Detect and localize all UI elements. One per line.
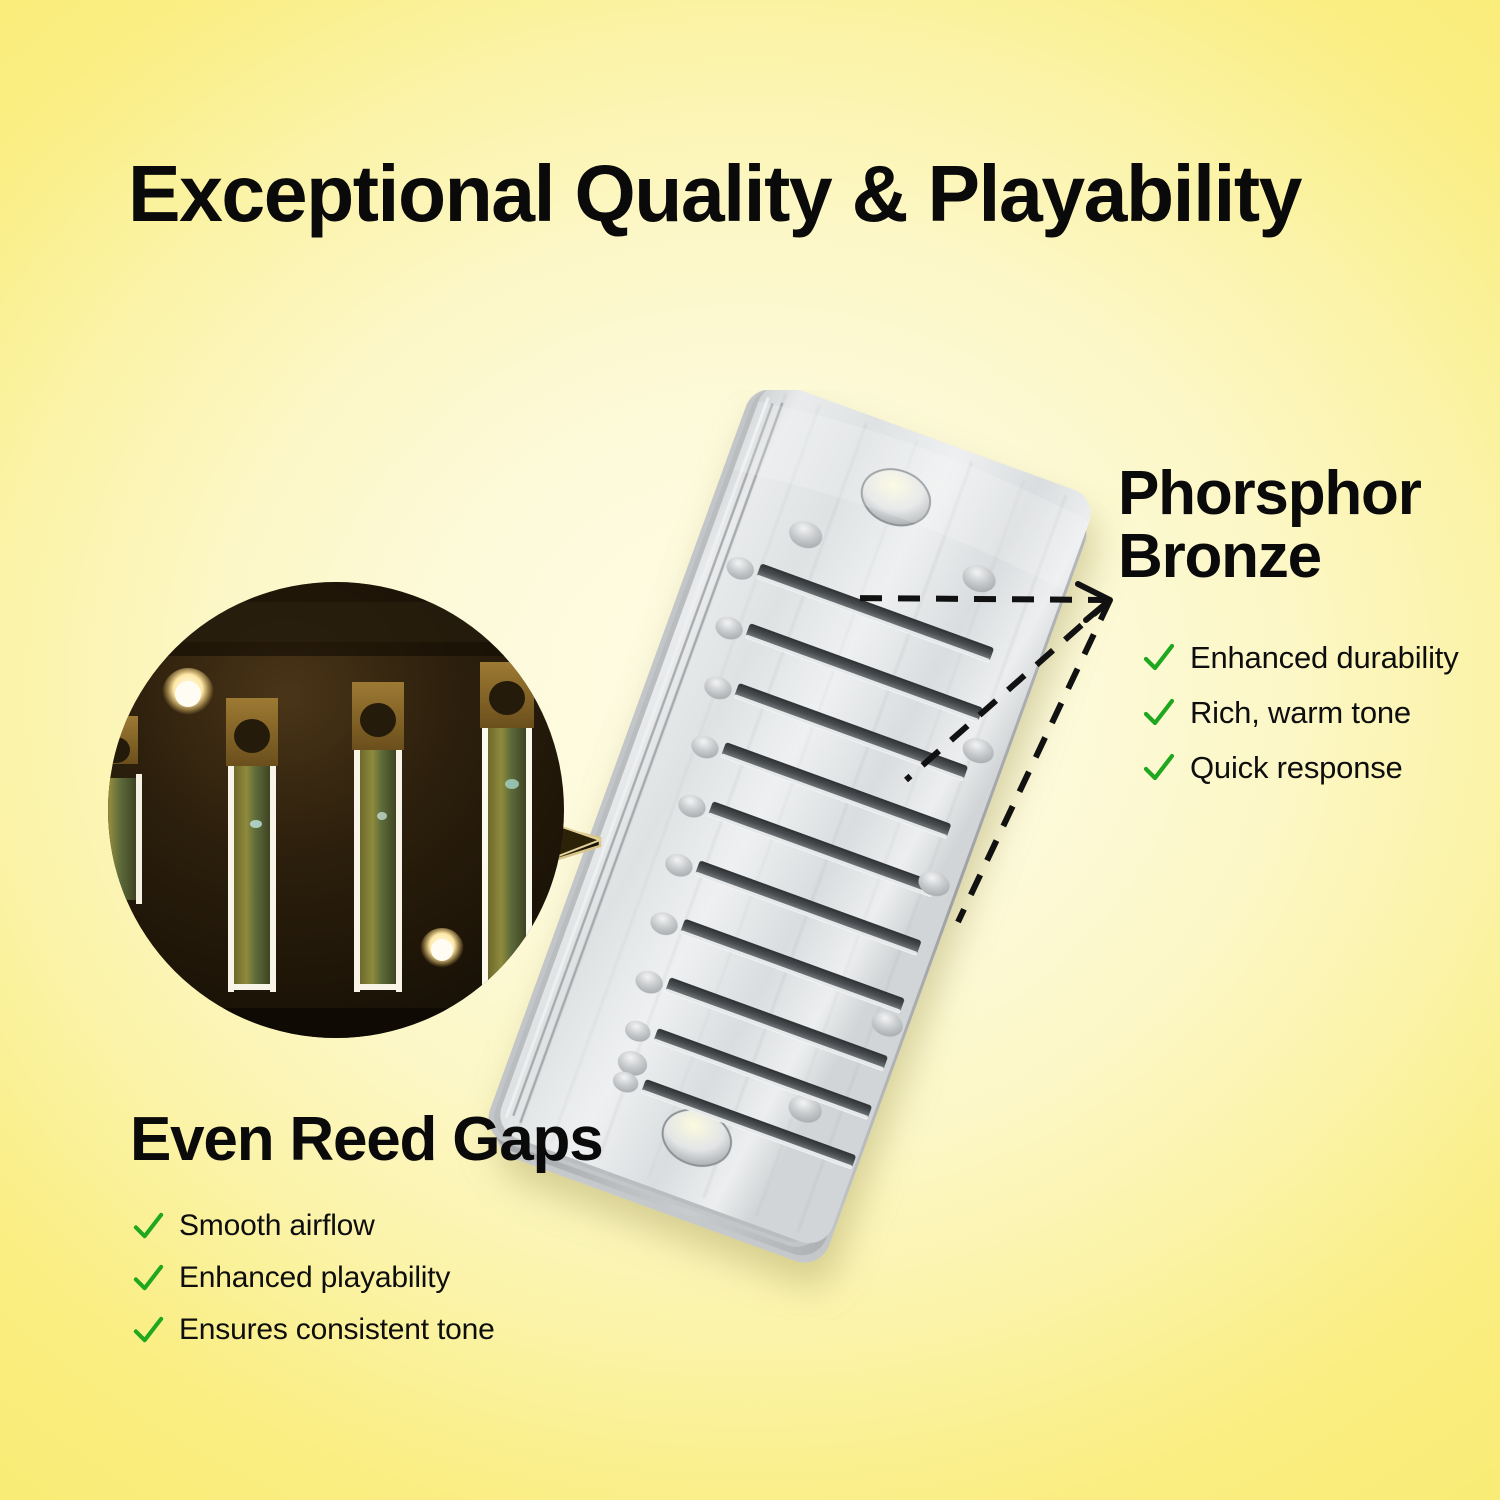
bronze-heading: Phorsphor Bronze xyxy=(1118,462,1488,588)
check-icon xyxy=(132,1314,165,1347)
list-item: Quick response xyxy=(1142,740,1459,795)
list-item-label: Enhanced durability xyxy=(1190,640,1459,676)
list-item: Enhanced playability xyxy=(132,1252,495,1304)
bronze-bullet-list: Enhanced durability Rich, warm tone Quic… xyxy=(1142,630,1459,795)
list-item-label: Rich, warm tone xyxy=(1190,695,1411,731)
check-icon xyxy=(1142,696,1176,730)
list-item: Ensures consistent tone xyxy=(132,1304,495,1356)
reed-gaps-bullet-list: Smooth airflow Enhanced playability Ensu… xyxy=(132,1200,495,1356)
list-item: Smooth airflow xyxy=(132,1200,495,1252)
check-icon xyxy=(1142,751,1176,785)
reed-gaps-heading: Even Reed Gaps xyxy=(130,1108,603,1171)
list-item-label: Quick response xyxy=(1190,750,1403,786)
list-item-label: Enhanced playability xyxy=(179,1261,450,1295)
list-item-label: Smooth airflow xyxy=(179,1209,375,1243)
list-item: Enhanced durability xyxy=(1142,630,1459,685)
list-item-label: Ensures consistent tone xyxy=(179,1313,495,1347)
bronze-heading-line1: Phorsphor xyxy=(1118,462,1488,525)
bronze-heading-line2: Bronze xyxy=(1118,525,1488,588)
check-icon xyxy=(132,1262,165,1295)
check-icon xyxy=(1142,641,1176,675)
check-icon xyxy=(132,1210,165,1243)
list-item: Rich, warm tone xyxy=(1142,685,1459,740)
